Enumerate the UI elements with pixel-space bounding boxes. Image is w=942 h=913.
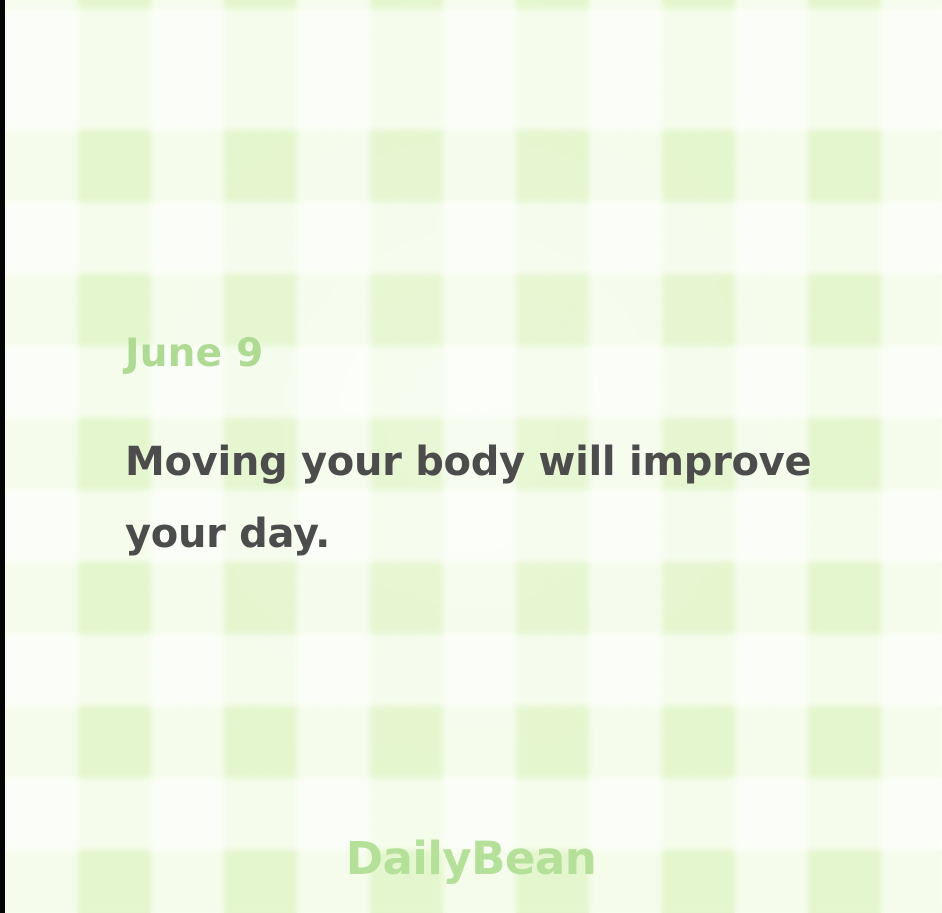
card-content: June 9 Moving your body will improve you…: [0, 0, 942, 913]
dailybean-logo: DailyBean: [0, 832, 942, 885]
entry-date: June 9: [125, 333, 263, 376]
entry-body-text: Moving your body will improve your day.: [125, 426, 825, 570]
daily-bean-journal-card: June 9 Moving your body will improve you…: [0, 0, 942, 913]
